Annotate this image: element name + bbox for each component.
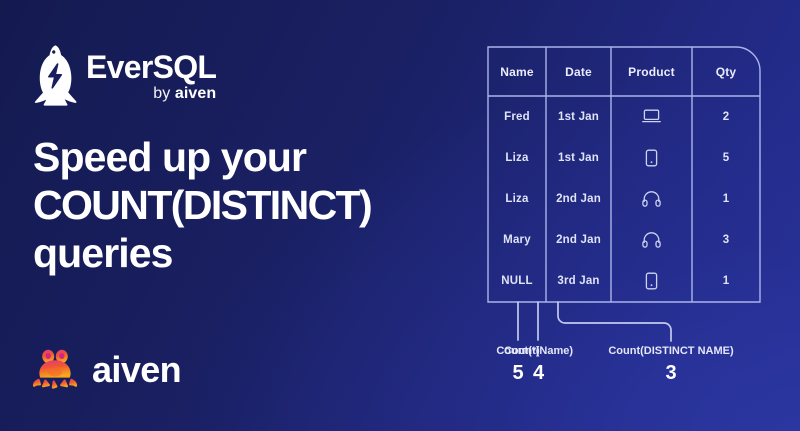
phone-icon — [611, 137, 692, 178]
table-cell-name: Liza — [488, 178, 546, 219]
table-cell-date: 1st Jan — [546, 137, 611, 178]
penguin-icon — [31, 44, 77, 106]
table-cell-qty: 2 — [692, 96, 760, 137]
table-cell-date: 2nd Jan — [546, 219, 611, 260]
aiven-footer-logo: aiven — [31, 348, 181, 392]
aiven-word: aiven — [175, 85, 216, 102]
table-cell-name: NULL — [488, 260, 546, 302]
table-cell-date: 1st Jan — [546, 96, 611, 137]
eversql-name: EverSQL — [86, 51, 216, 83]
table-cell-qty: 1 — [692, 178, 760, 219]
eversql-wordmark: EverSQL by aiven — [86, 49, 216, 102]
table-header-name: Name — [488, 47, 546, 96]
headline-line-3: queries — [33, 230, 463, 278]
page-title: Speed up your COUNT(DISTINCT) queries — [33, 134, 463, 278]
count-name-value: 4 — [476, 362, 601, 385]
headline-line-2: COUNT(DISTINCT) — [33, 182, 463, 230]
count-distinct-table-figure: Name Date Product Qty Fred 1st Jan 2 Liz… — [470, 40, 790, 390]
count-distinct-name-label: Count(DISTINCT NAME) — [590, 345, 752, 357]
promo-banner: EverSQL by aiven Speed up your COUNT(DIS… — [0, 0, 800, 431]
table-cell-qty: 5 — [692, 137, 760, 178]
phone-icon — [611, 260, 692, 302]
eversql-brand-logo: EverSQL by aiven — [31, 44, 216, 106]
by-aiven-label: by aiven — [153, 86, 216, 102]
headphones-icon — [611, 219, 692, 260]
table-cell-date: 2nd Jan — [546, 178, 611, 219]
count-name-label: Count(Name) — [476, 345, 601, 357]
count-distinct-name-value: 3 — [590, 362, 752, 385]
table-cells: Name Date Product Qty Fred 1st Jan 2 Liz… — [470, 40, 790, 390]
table-cell-qty: 3 — [692, 219, 760, 260]
headphones-icon — [611, 178, 692, 219]
table-cell-name: Liza — [488, 137, 546, 178]
table-cell-name: Fred — [488, 96, 546, 137]
table-cell-name: Mary — [488, 219, 546, 260]
table-cell-qty: 1 — [692, 260, 760, 302]
crab-icon — [31, 348, 79, 392]
by-word: by — [153, 85, 175, 102]
laptop-icon — [611, 96, 692, 137]
aiven-footer-label: aiven — [92, 352, 181, 388]
table-cell-date: 3rd Jan — [546, 260, 611, 302]
table-header-product: Product — [611, 47, 692, 96]
table-header-date: Date — [546, 47, 611, 96]
headline-line-1: Speed up your — [33, 134, 463, 182]
table-header-qty: Qty — [692, 47, 760, 96]
